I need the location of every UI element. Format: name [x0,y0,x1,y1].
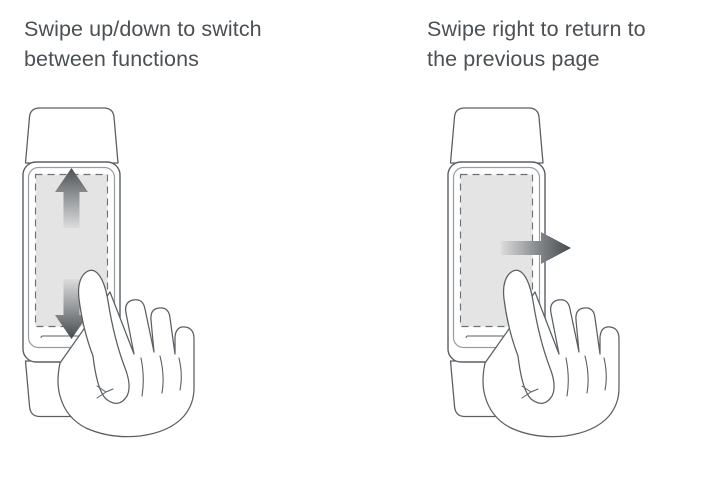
panel-swipe-right: Swipe right to return to the previous pa… [355,0,710,477]
caption-swipe-right: Swipe right to return to the previous pa… [427,14,710,74]
band-strap-top [26,108,119,163]
band-strap-top [451,108,544,163]
hand-index-finger-pointing [58,270,194,436]
gesture-instructions-page: Swipe up/down to switch between function… [0,0,710,477]
illustration-swipe-up-down [0,96,355,446]
panel-swipe-up-down: Swipe up/down to switch between function… [0,0,355,477]
illustration-swipe-right [355,96,710,446]
hand-index-finger-pointing [483,270,619,436]
caption-swipe-up-down: Swipe up/down to switch between function… [24,14,344,74]
